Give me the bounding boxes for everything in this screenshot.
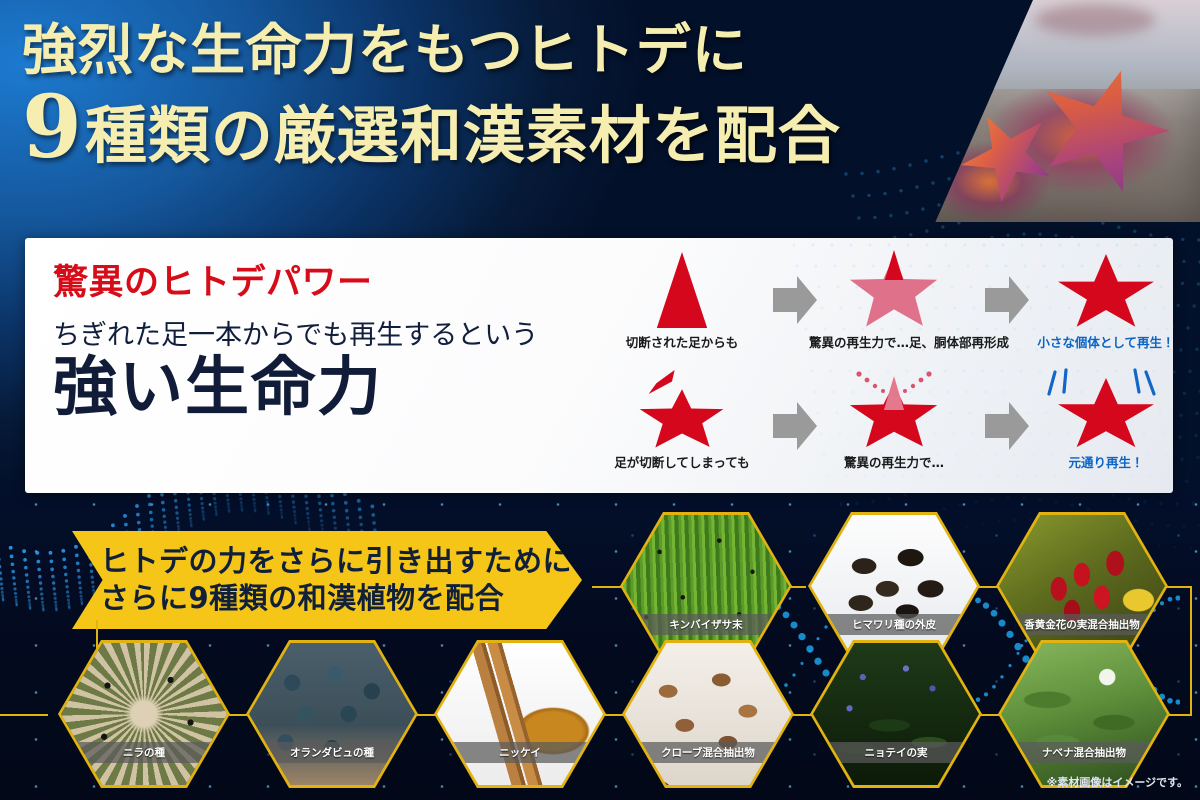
small-star-graphic <box>1021 248 1173 332</box>
diagram-step-1-2: 驚異の再生力で…足、胴体部再形成 <box>809 248 979 360</box>
headline-number-9: 9 <box>22 89 83 166</box>
diagram-label: 足が切断してしまっても <box>597 452 767 471</box>
diagram-step-2-2: 驚異の再生力で… <box>809 368 979 480</box>
hex-connector <box>0 714 48 716</box>
panel-red-title: 驚異のヒトデパワー <box>53 254 598 305</box>
diagram-row-1: 切断された足からも 驚異の再生力で…足、胴体部再形成 <box>597 248 1167 360</box>
headline-line-2-text: 種類の厳選和漢素材を配合 <box>85 103 841 170</box>
regrowth-dots <box>839 368 949 402</box>
hex-caption: ニッケイ <box>437 742 603 763</box>
diagram-label: 小さな個体として再生！ <box>1021 332 1173 351</box>
diagram-step-1-1: 切断された足からも <box>597 248 767 360</box>
diagram-row-2: 足が切断してしまっても <box>597 368 1167 480</box>
headline-line-1: 強烈な生命力をもつヒトデに <box>22 20 902 79</box>
diagram-label: 元通り再生！ <box>1021 452 1173 471</box>
severed-leg-graphic <box>597 248 767 332</box>
hex-caption: 香黄金花の実混合抽出物 <box>999 614 1165 635</box>
hex-caption: ナベナ混合抽出物 <box>1001 742 1167 763</box>
regenerating-star-graphic <box>809 248 979 332</box>
advertisement-page: 強烈な生命力をもつヒトデに 9 種類の厳選和漢素材を配合 驚異のヒトデパワー ち… <box>0 0 1200 800</box>
diagram-label: 切断された足からも <box>597 332 767 351</box>
banner-line-1: ヒトデの力をさらに引き出すために、 <box>100 543 582 580</box>
restored-star-graphic <box>1021 368 1173 452</box>
hex-caption: キンバイザサ末 <box>623 614 789 635</box>
panel-big-title: 強い生命力 <box>53 354 598 421</box>
hex-caption: クローブ混合抽出物 <box>625 742 791 763</box>
hex-connector <box>1190 586 1192 716</box>
shine-lines-icon <box>1033 368 1173 402</box>
photo-cloud <box>1035 4 1155 36</box>
panel-text-block: 驚異のヒトデパワー ちぎれた足一本からでも再生するという 強い生命力 <box>53 254 598 421</box>
hex-caption: ヒマワリ種の外皮 <box>811 614 977 635</box>
diagram-label: 驚異の再生力で…足、胴体部再形成 <box>809 332 979 351</box>
headline: 強烈な生命力をもつヒトデに 9 種類の厳選和漢素材を配合 <box>22 20 902 170</box>
diagram-step-2-1: 足が切断してしまっても <box>597 368 767 480</box>
hex-caption: ニラの種 <box>61 742 227 763</box>
disclaimer-text: ※素材画像はイメージです。 <box>1047 774 1188 790</box>
broken-star-graphic <box>597 368 767 452</box>
diagram-step-2-3: 元通り再生！ <box>1021 368 1173 480</box>
diagram-step-1-3: 小さな個体として再生！ <box>1021 248 1173 360</box>
banner-line-2: さらに9種類の和漢植物を配合 <box>100 580 582 617</box>
hitode-power-panel: 驚異のヒトデパワー ちぎれた足一本からでも再生するという 強い生命力 切断された… <box>25 238 1173 493</box>
hex-caption: オランダビュの種 <box>249 742 415 763</box>
yellow-banner: ヒトデの力をさらに引き出すために、 さらに9種類の和漢植物を配合 <box>72 531 582 629</box>
star-regrowing-graphic <box>809 368 979 452</box>
panel-subtitle: ちぎれた足一本からでも再生するという <box>53 313 598 352</box>
regeneration-diagram: 切断された足からも 驚異の再生力で…足、胴体部再形成 <box>597 246 1167 486</box>
diagram-label: 驚異の再生力で… <box>809 452 979 471</box>
hex-caption: ニョテイの実 <box>813 742 979 763</box>
headline-line-2: 9 種類の厳選和漢素材を配合 <box>22 89 902 170</box>
